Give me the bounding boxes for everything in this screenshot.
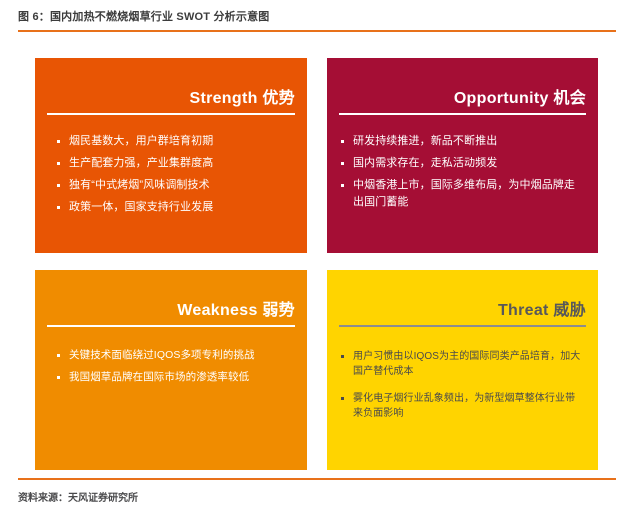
bullet-dot-icon — [57, 354, 60, 357]
swot-quadrant-weakness: Weakness 弱势 关键技术面临绕过IQOS多项专利的挑战 我国烟草品牌在国… — [35, 270, 307, 470]
list-item: 关键技术面临绕过IQOS多项专利的挑战 — [57, 347, 295, 364]
threat-bullet-text: 用户习惯由以IQOS为主的国际同类产品培育，加大国产替代成本 — [353, 349, 584, 379]
bullet-dot-icon — [341, 140, 344, 143]
header-divider — [18, 30, 616, 32]
threat-bullet-list: 用户习惯由以IQOS为主的国际同类产品培育，加大国产替代成本 雾化电子烟行业乱象… — [341, 349, 584, 421]
figure-title: 图 6：国内加热不燃烧烟草行业 SWOT 分析示意图 — [18, 10, 616, 24]
bullet-dot-icon — [341, 162, 344, 165]
bullet-dot-icon — [341, 184, 344, 187]
list-item: 国内需求存在，走私活动频发 — [341, 155, 582, 172]
strength-bullet-text: 烟民基数大，用户群培育初期 — [69, 133, 213, 150]
figure-footer: 资料来源：天风证券研究所 — [18, 478, 616, 504]
figure-header: 图 6：国内加热不燃烧烟草行业 SWOT 分析示意图 — [18, 10, 616, 32]
strength-title-underline — [47, 113, 295, 115]
list-item: 生产配套力强，产业集群度高 — [57, 155, 293, 172]
threat-bullet-text: 雾化电子烟行业乱象频出，为新型烟草整体行业带来负面影响 — [353, 391, 584, 421]
opportunity-bullet-text: 研发持续推进，新品不断推出 — [353, 133, 497, 150]
opportunity-title-wrap: Opportunity 机会 — [339, 58, 586, 108]
opportunity-bullet-text: 国内需求存在，走私活动频发 — [353, 155, 497, 172]
strength-bullet-text: 政策一体，国家支持行业发展 — [69, 199, 213, 216]
weakness-title-wrap: Weakness 弱势 — [47, 270, 295, 320]
list-item: 雾化电子烟行业乱象频出，为新型烟草整体行业带来负面影响 — [341, 391, 584, 421]
weakness-bullet-list: 关键技术面临绕过IQOS多项专利的挑战 我国烟草品牌在国际市场的渗透率较低 — [57, 347, 295, 386]
swot-quadrant-strength: Strength 优势 烟民基数大，用户群培育初期 生产配套力强，产业集群度高 … — [35, 58, 307, 253]
opportunity-title: Opportunity 机会 — [339, 84, 586, 108]
swot-quadrant-opportunity: Opportunity 机会 研发持续推进，新品不断推出 国内需求存在，走私活动… — [327, 58, 598, 253]
threat-title-wrap: Threat 威胁 — [339, 270, 586, 320]
strength-bullet-text: 独有“中式烤烟”风味调制技术 — [69, 177, 210, 194]
strength-title-wrap: Strength 优势 — [47, 58, 295, 108]
threat-title: Threat 威胁 — [339, 296, 586, 320]
bullet-dot-icon — [57, 184, 60, 187]
list-item: 政策一体，国家支持行业发展 — [57, 199, 293, 216]
list-item: 用户习惯由以IQOS为主的国际同类产品培育，加大国产替代成本 — [341, 349, 584, 379]
bullet-dot-icon — [57, 162, 60, 165]
list-item: 独有“中式烤烟”风味调制技术 — [57, 177, 293, 194]
strength-title: Strength 优势 — [47, 84, 295, 108]
weakness-bullet-text: 我国烟草品牌在国际市场的渗透率较低 — [69, 369, 249, 386]
source-label: 资料来源：天风证券研究所 — [18, 489, 616, 504]
opportunity-bullet-list: 研发持续推进，新品不断推出 国内需求存在，走私活动频发 中烟香港上市，国际多维布… — [341, 133, 582, 211]
bullet-dot-icon — [341, 397, 344, 400]
list-item: 烟民基数大，用户群培育初期 — [57, 133, 293, 150]
bullet-dot-icon — [57, 206, 60, 209]
weakness-title-underline — [47, 325, 295, 327]
bullet-dot-icon — [57, 376, 60, 379]
swot-quadrant-threat: Threat 威胁 用户习惯由以IQOS为主的国际同类产品培育，加大国产替代成本… — [327, 270, 598, 470]
weakness-bullet-text: 关键技术面临绕过IQOS多项专利的挑战 — [69, 347, 255, 364]
bullet-dot-icon — [57, 140, 60, 143]
strength-bullet-text: 生产配套力强，产业集群度高 — [69, 155, 213, 172]
strength-bullet-list: 烟民基数大，用户群培育初期 生产配套力强，产业集群度高 独有“中式烤烟”风味调制… — [57, 133, 293, 216]
bullet-dot-icon — [341, 355, 344, 358]
threat-title-underline — [339, 325, 586, 327]
list-item: 研发持续推进，新品不断推出 — [341, 133, 582, 150]
swot-grid: Strength 优势 烟民基数大，用户群培育初期 生产配套力强，产业集群度高 … — [35, 58, 598, 470]
opportunity-title-underline — [339, 113, 586, 115]
opportunity-bullet-text: 中烟香港上市，国际多维布局，为中烟品牌走出国门蓄能 — [353, 177, 582, 211]
weakness-title: Weakness 弱势 — [47, 296, 295, 320]
swot-figure: 图 6：国内加热不燃烧烟草行业 SWOT 分析示意图 Strength 优势 烟… — [0, 0, 634, 515]
list-item: 中烟香港上市，国际多维布局，为中烟品牌走出国门蓄能 — [341, 177, 582, 211]
list-item: 我国烟草品牌在国际市场的渗透率较低 — [57, 369, 295, 386]
footer-divider — [18, 478, 616, 480]
